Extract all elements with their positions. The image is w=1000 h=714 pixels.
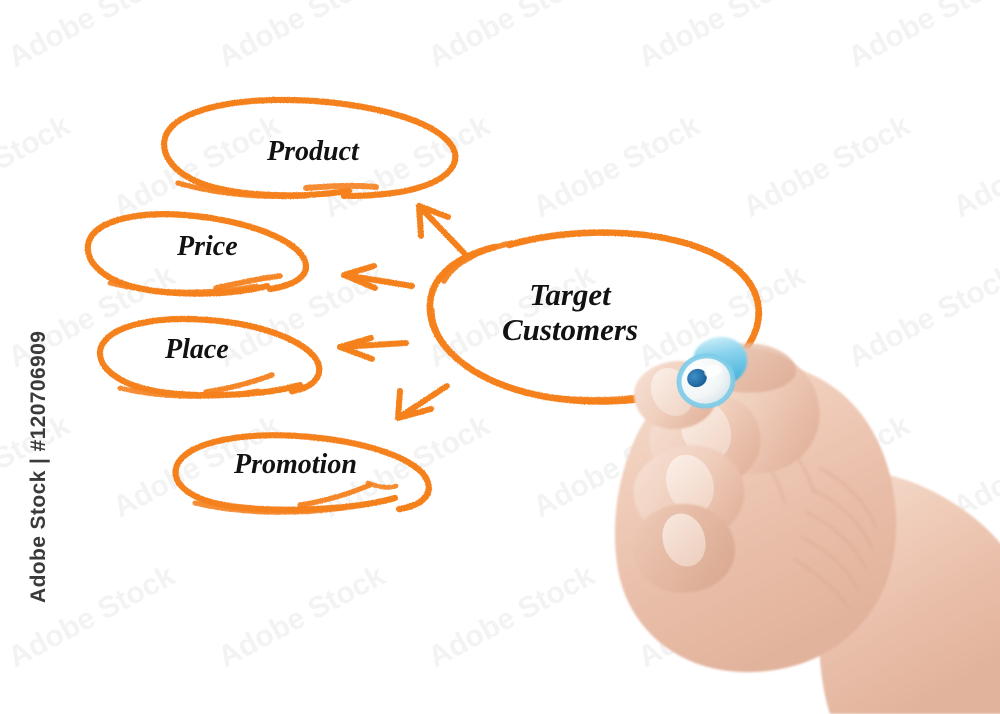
- marketing-mix-diagram: [0, 0, 1000, 714]
- node-label-promotion: Promotion: [234, 449, 357, 481]
- screenshot-canvas: Adobe StockAdobe StockAdobe StockAdobe S…: [0, 0, 1000, 714]
- node-label-product: Product: [267, 136, 359, 168]
- node-label-place: Place: [165, 334, 229, 366]
- target-label-line-2: Customers: [470, 312, 670, 347]
- node-label-price: Price: [177, 231, 238, 263]
- adobe-stock-side-watermark: Adobe Stock | #120706909: [27, 353, 51, 603]
- node-label-target-customers: Target Customers: [470, 277, 670, 347]
- connector-arrow-to-promotion: [398, 386, 447, 418]
- connector-arrow-to-price: [344, 266, 412, 288]
- connector-arrow-to-place: [340, 338, 406, 359]
- target-label-line-1: Target: [470, 277, 670, 312]
- connector-arrow-to-product: [419, 206, 466, 255]
